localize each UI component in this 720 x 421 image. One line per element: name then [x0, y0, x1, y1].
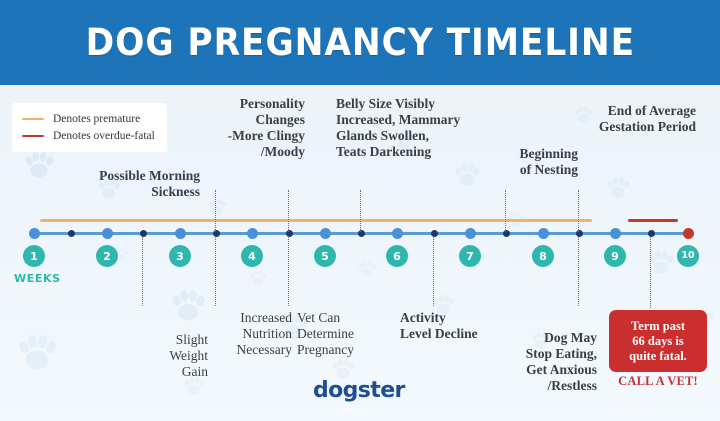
callout-above-4: End of Average Gestation Period — [599, 103, 696, 135]
week-badge-2[interactable]: 2 — [96, 245, 118, 267]
connector-above-0 — [215, 190, 216, 232]
callout-below-0: Slight Weight Gain — [169, 332, 208, 380]
paw-print-icon — [22, 148, 56, 182]
connector-above-4 — [578, 190, 579, 232]
legend-label-premature: Denotes premature — [53, 113, 140, 125]
page-title: DOG PREGNANCY TIMELINE — [85, 21, 634, 64]
connector-above-1 — [288, 190, 289, 232]
brand-logo: dogster — [313, 378, 405, 403]
week-marker-5 — [320, 228, 331, 239]
line-swatch-icon-overdue — [22, 135, 44, 137]
week-marker-8 — [538, 228, 549, 239]
week-marker-2 — [102, 228, 113, 239]
week-badge-1[interactable]: 1 — [23, 245, 45, 267]
callout-below-1: Increased Nutrition Necessary — [237, 310, 292, 358]
paw-print-icon — [452, 160, 482, 190]
fatal-warning-box: Term past 66 days is quite fatal. — [609, 310, 707, 372]
week-badge-8[interactable]: 8 — [532, 245, 554, 267]
paw-print-icon — [206, 196, 228, 218]
connector-fatal — [650, 236, 651, 308]
connector-above-3 — [505, 190, 506, 232]
callout-below-3: Activity Level Decline — [400, 310, 478, 342]
call-a-vet-text: CALL A VET! — [609, 374, 707, 389]
week-marker-1 — [29, 228, 40, 239]
header-bar: DOG PREGNANCY TIMELINE — [0, 0, 720, 85]
callout-above-1: Personality Changes -More Clingy /Moody — [228, 96, 305, 160]
callout-below-4: Dog May Stop Eating, Get Anxious /Restle… — [526, 330, 597, 394]
connector-below-4 — [578, 236, 579, 306]
fatal-range-line — [628, 219, 678, 222]
callout-below-2: Vet Can Determine Pregnancy — [297, 310, 354, 358]
week-badge-4[interactable]: 4 — [241, 245, 263, 267]
weeks-axis-caption: WEEKS — [14, 272, 61, 285]
week-marker-4 — [247, 228, 258, 239]
week-marker-3 — [175, 228, 186, 239]
premature-range-line — [40, 219, 592, 222]
week-badge-6[interactable]: 6 — [386, 245, 408, 267]
connector-below-3 — [433, 236, 434, 306]
paw-print-icon — [572, 104, 594, 126]
callout-above-0: Possible Morning Sickness — [99, 168, 200, 200]
week-marker-9 — [610, 228, 621, 239]
paw-print-icon — [168, 286, 208, 326]
paw-print-icon — [248, 268, 268, 288]
paw-print-icon — [604, 174, 632, 202]
line-swatch-icon-premature — [22, 118, 44, 120]
paw-print-icon — [14, 330, 60, 376]
half-week-marker — [68, 230, 75, 237]
legend-item-premature: Denotes premature — [22, 110, 155, 127]
legend-item-overdue: Denotes overdue-fatal — [22, 127, 155, 144]
week-marker-7 — [465, 228, 476, 239]
week-marker-10 — [683, 228, 694, 239]
connector-above-2 — [360, 190, 361, 232]
week-marker-6 — [392, 228, 403, 239]
callout-above-2: Belly Size Visibly Increased, Mammary Gl… — [336, 96, 460, 160]
fatal-warning-text: Term past 66 days is quite fatal. — [629, 319, 687, 364]
connector-below-0 — [142, 236, 143, 306]
week-badge-10[interactable]: 10 — [677, 245, 699, 267]
paw-print-icon — [356, 258, 378, 280]
week-badge-5[interactable]: 5 — [314, 245, 336, 267]
week-badge-3[interactable]: 3 — [169, 245, 191, 267]
week-badge-9[interactable]: 9 — [604, 245, 626, 267]
connector-below-1 — [215, 236, 216, 306]
connector-below-2 — [288, 236, 289, 306]
week-badge-7[interactable]: 7 — [459, 245, 481, 267]
infographic-canvas: DOG PREGNANCY TIMELINE Denotes premature… — [0, 0, 720, 421]
legend-box: Denotes premature Denotes overdue-fatal — [12, 103, 167, 152]
legend-label-overdue: Denotes overdue-fatal — [53, 130, 155, 142]
callout-above-3: Beginning of Nesting — [519, 146, 578, 178]
